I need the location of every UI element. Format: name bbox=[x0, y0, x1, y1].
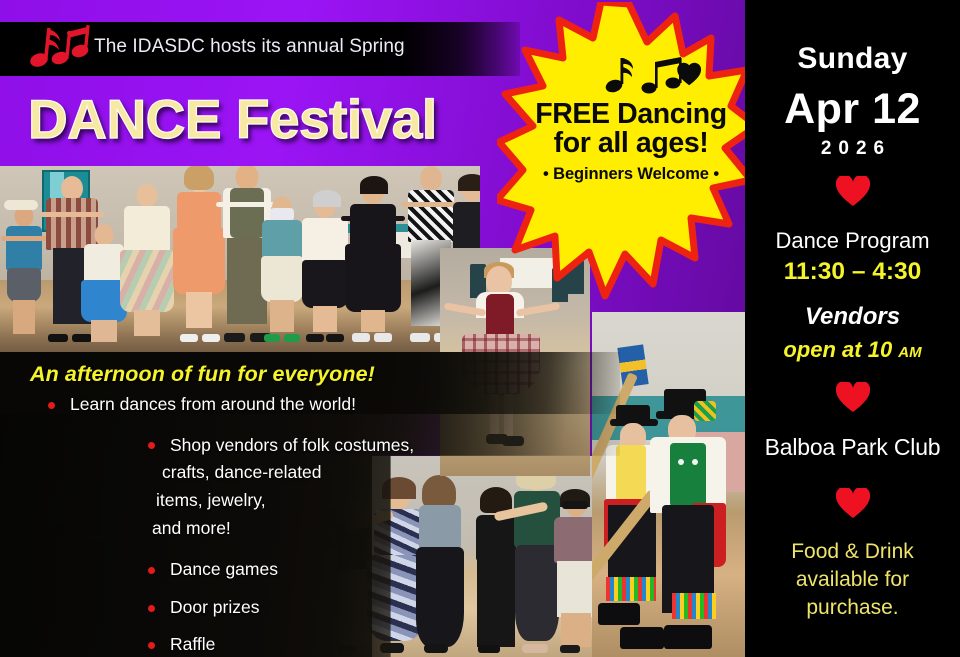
vendors-open-time-text: open at 10 bbox=[783, 337, 898, 362]
feature-bullet-list: Learn dances from around the world! Shop… bbox=[36, 391, 476, 657]
starburst-text: FREE Dancing for all ages! • Beginners W… bbox=[517, 100, 745, 184]
starburst-icons bbox=[605, 54, 715, 96]
dance-festival-poster: An afternoon of fun for everyone! Learn … bbox=[0, 0, 960, 657]
vendors-open-time: open at 10 AM bbox=[745, 337, 960, 363]
food-line-3: purchase. bbox=[745, 594, 960, 622]
starburst-line-2: for all ages! bbox=[517, 129, 745, 158]
tagline-text: An afternoon of fun for everyone! bbox=[30, 362, 500, 387]
starburst-line-1: FREE Dancing bbox=[517, 100, 745, 129]
heart-icon bbox=[836, 382, 870, 413]
list-item-continuation: items, jewelry, bbox=[156, 487, 476, 515]
poster-main-area: An afternoon of fun for everyone! Learn … bbox=[0, 0, 745, 657]
list-item-label: Door prizes bbox=[170, 594, 476, 622]
bullet-dot-icon bbox=[148, 442, 155, 449]
vendors-ampm: AM bbox=[898, 344, 921, 361]
line-dance-hall-photo bbox=[0, 166, 480, 356]
venue-name: Balboa Park Club bbox=[745, 434, 960, 461]
bullet-dot-icon bbox=[148, 567, 155, 574]
event-date: Apr 12 bbox=[745, 85, 960, 134]
event-day: Sunday bbox=[745, 42, 960, 76]
list-item: Door prizes bbox=[148, 594, 476, 622]
heart-icon bbox=[836, 488, 870, 519]
starburst-line-3: • Beginners Welcome • bbox=[517, 165, 745, 184]
event-year: 2026 bbox=[745, 138, 960, 160]
bullet-dot-icon bbox=[48, 402, 55, 409]
music-notes-icon bbox=[28, 20, 90, 72]
list-item-label: Dance games bbox=[170, 556, 476, 584]
food-line-1: Food & Drink bbox=[745, 538, 960, 566]
event-details-sidebar: Sunday Apr 12 2026 Dance Program 11:30 –… bbox=[745, 0, 960, 657]
food-and-drink-note: Food & Drink available for purchase. bbox=[745, 538, 960, 622]
vendors-label: Vendors bbox=[745, 303, 960, 331]
heart-icon bbox=[836, 176, 870, 207]
list-item-label: Learn dances from around the world! bbox=[70, 391, 476, 419]
dance-program-label: Dance Program bbox=[745, 228, 960, 254]
list-item-label: Raffle bbox=[170, 631, 476, 657]
food-line-2: available for bbox=[745, 566, 960, 594]
list-item: Dance games bbox=[148, 556, 476, 584]
bullet-dot-icon bbox=[148, 642, 155, 649]
list-item: Shop vendors of folk costumes, crafts, d… bbox=[148, 432, 476, 543]
list-item: Raffle bbox=[148, 631, 476, 657]
kicker-text: The IDASDC hosts its annual Spring bbox=[94, 36, 405, 58]
list-item: Learn dances from around the world! bbox=[48, 391, 476, 419]
dance-program-time: 11:30 – 4:30 bbox=[745, 258, 960, 286]
free-dancing-starburst: FREE Dancing for all ages! • Beginners W… bbox=[497, 2, 745, 316]
page-title: DANCE Festival bbox=[28, 92, 437, 147]
list-item-continuation: and more! bbox=[152, 515, 476, 543]
bullet-dot-icon bbox=[148, 605, 155, 612]
list-item-label: Shop vendors of folk costumes, bbox=[170, 432, 476, 460]
list-item-continuation: crafts, dance-related bbox=[162, 459, 476, 487]
